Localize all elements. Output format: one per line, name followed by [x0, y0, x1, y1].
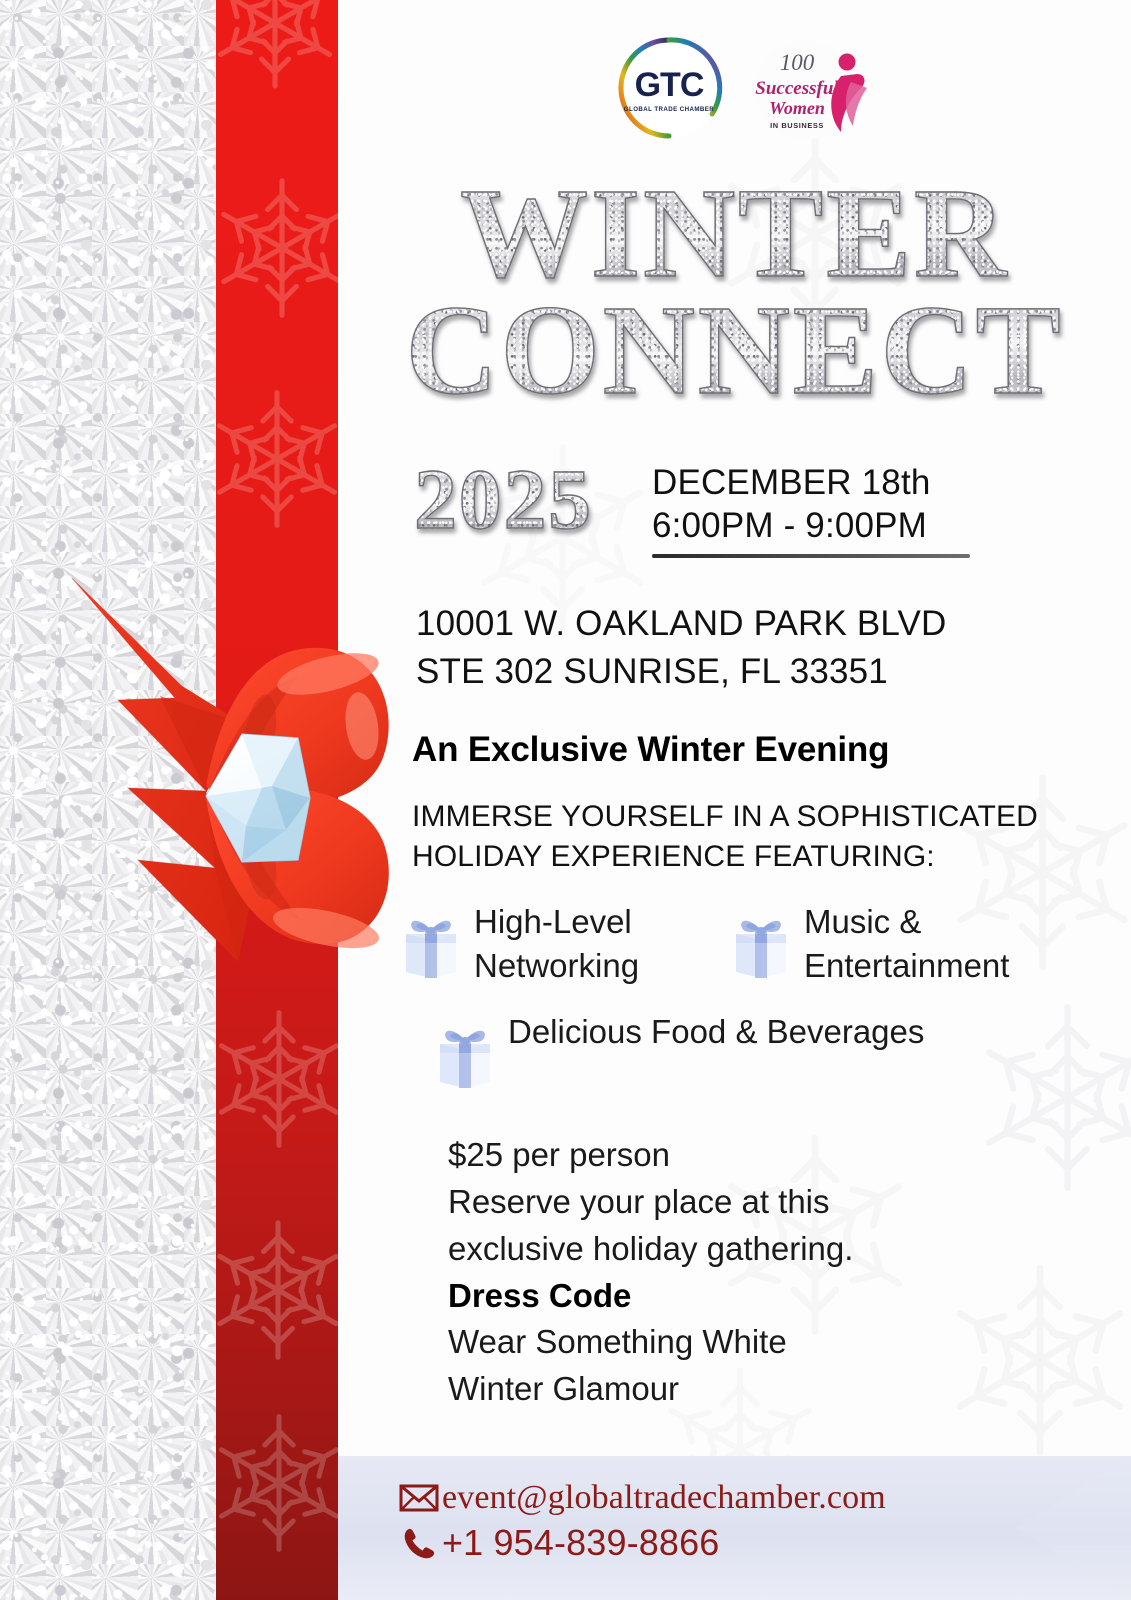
description-line-1: IMMERSE YOURSELF IN A SOPHISTICATED: [412, 797, 1131, 837]
dress-code-heading: Dress Code: [448, 1273, 1108, 1320]
gift-box-icon: [400, 906, 462, 978]
svg-text:100: 100: [780, 50, 815, 75]
logo-row: GTC GLOBAL TRADE CHAMBER 100 Successful …: [613, 30, 883, 148]
snowflake-icon: [216, 1000, 338, 1158]
snowflake-icon: [216, 380, 338, 538]
pricing-and-dresscode: $25 per person Reserve your place at thi…: [448, 1132, 1108, 1413]
snowflake-icon: [216, 1404, 338, 1562]
event-title: WINTER CONNECT: [338, 172, 1131, 412]
date-underline-rule: [652, 554, 970, 558]
contact-phone: +1 954-839-8866: [442, 1522, 719, 1564]
reserve-line-2: exclusive holiday gathering.: [448, 1226, 1108, 1273]
svg-text:GLOBAL TRADE CHAMBER: GLOBAL TRADE CHAMBER: [624, 106, 715, 113]
address-line-1: 10001 W. OAKLAND PARK BLVD: [416, 600, 1116, 648]
reserve-line-1: Reserve your place at this: [448, 1179, 1108, 1226]
winter-connect-flyer: GTC GLOBAL TRADE CHAMBER 100 Successful …: [0, 0, 1131, 1600]
svg-text:GTC: GTC: [635, 66, 704, 104]
snowflake-icon: [216, 1210, 338, 1370]
dress-code-line-1: Wear Something White: [448, 1319, 1108, 1366]
venue-address: 10001 W. OAKLAND PARK BLVD STE 302 SUNRI…: [416, 600, 1116, 695]
contact-phone-row[interactable]: +1 954-839-8866: [396, 1522, 1046, 1564]
snowflake-icon: [216, 0, 338, 98]
dress-code-line-2: Winter Glamour: [448, 1366, 1108, 1413]
contact-banner: event@globaltradechamber.com +1 954-839-…: [338, 1456, 1131, 1600]
description-line-2: HOLIDAY EXPERIENCE FEATURING:: [412, 837, 1131, 877]
svg-text:Successful: Successful: [755, 78, 839, 99]
contact-email-row[interactable]: event@globaltradechamber.com: [396, 1478, 1046, 1518]
feature-item-networking: High-Level Networking: [400, 900, 730, 988]
svg-text:Women: Women: [769, 98, 825, 118]
feature-item-music: Music & Entertainment: [730, 900, 1070, 988]
address-line-2: STE 302 SUNRISE, FL 33351: [416, 648, 1116, 696]
svg-text:IN BUSINESS: IN BUSINESS: [770, 121, 824, 130]
title-line-winter: WINTER: [338, 172, 1131, 295]
feature-label-line-2: Networking: [474, 944, 639, 988]
event-tagline: An Exclusive Winter Evening: [412, 730, 1112, 770]
100-successful-women-logo: 100 Successful Women IN BUSINESS: [741, 38, 871, 142]
feature-label-line-1: Delicious Food & Beverages: [508, 1010, 924, 1054]
price-text: $25 per person: [448, 1132, 1108, 1179]
date-time-box: DECEMBER 18th 6:00PM - 9:00PM: [652, 462, 982, 558]
snowflake-icon: [216, 168, 338, 328]
feature-label: Music & Entertainment: [804, 900, 1009, 988]
title-line-connect: CONNECT: [338, 289, 1131, 412]
feature-row-top: High-Level Networking: [400, 900, 1130, 988]
gift-box-icon: [730, 906, 792, 978]
event-time: 6:00PM - 9:00PM: [652, 505, 982, 548]
poster-content: GTC GLOBAL TRADE CHAMBER 100 Successful …: [338, 0, 1131, 1600]
contact-info: event@globaltradechamber.com +1 954-839-…: [396, 1478, 1046, 1568]
envelope-icon: [396, 1478, 442, 1518]
feature-list: High-Level Networking: [400, 900, 1130, 1088]
event-year: 2025: [414, 458, 593, 541]
feature-label: Delicious Food & Beverages: [508, 1010, 924, 1054]
feature-label: High-Level Networking: [474, 900, 639, 988]
gtc-logo: GTC GLOBAL TRADE CHAMBER: [613, 32, 725, 144]
feature-label-line-1: High-Level: [474, 900, 639, 944]
gift-box-icon: [434, 1016, 496, 1088]
contact-email: event@globaltradechamber.com: [442, 1479, 886, 1517]
feature-item-food: Delicious Food & Beverages: [434, 1010, 1130, 1088]
feature-label-line-2: Entertainment: [804, 944, 1009, 988]
feature-label-line-1: Music &: [804, 900, 1009, 944]
phone-icon: [396, 1523, 442, 1563]
event-date: DECEMBER 18th: [652, 462, 982, 505]
event-description: IMMERSE YOURSELF IN A SOPHISTICATED HOLI…: [412, 797, 1131, 877]
year-and-date-block: 2025 DECEMBER 18th 6:00PM - 9:00PM: [338, 452, 1131, 572]
